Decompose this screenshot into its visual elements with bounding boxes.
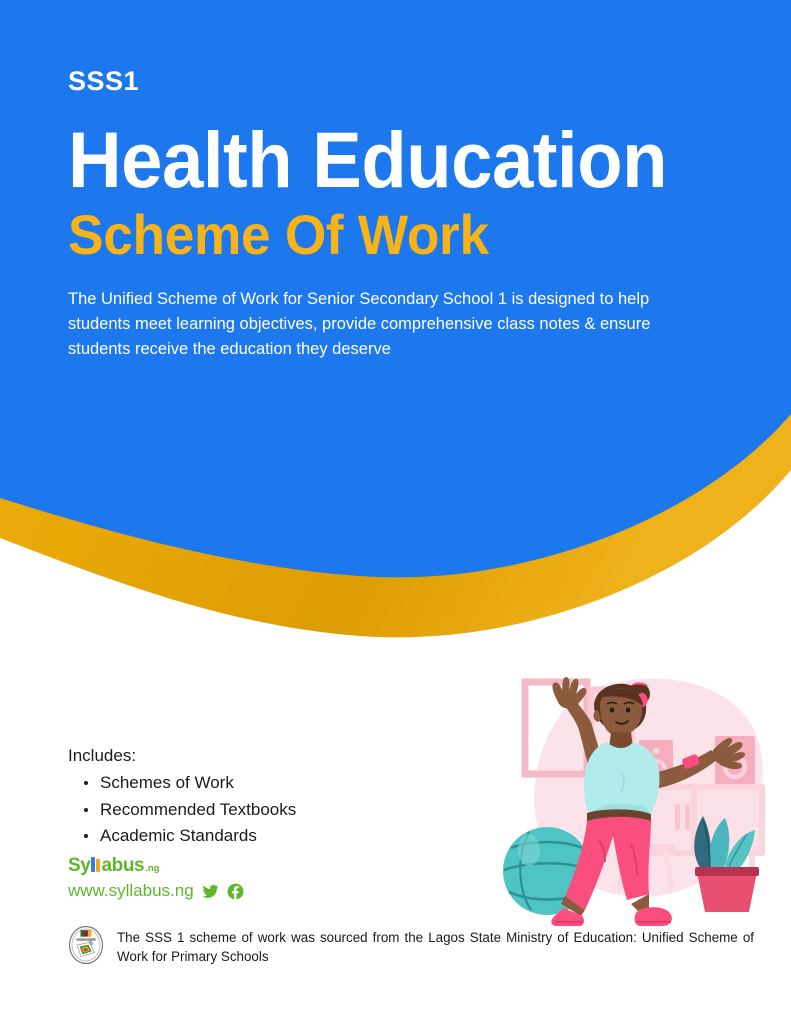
document-description: The Unified Scheme of Work for Senior Se… xyxy=(68,287,708,362)
logo-text-prefix: Sy xyxy=(68,856,90,875)
figure-eye-left xyxy=(610,707,614,712)
lagos-state-ministry-of-education-seal-icon: LAGOS STATE xyxy=(68,925,104,965)
brand-url-row: www.syllabus.ng xyxy=(68,881,244,901)
books-icon xyxy=(91,857,100,872)
document-type-subtitle: Scheme Of Work xyxy=(68,206,698,265)
includes-heading: Includes: xyxy=(68,745,296,767)
cabinet-handle-left xyxy=(675,804,680,830)
plant-pot xyxy=(697,872,757,912)
woman-exercising-illustration xyxy=(499,664,775,930)
list-item: Recommended Textbooks xyxy=(84,798,296,821)
figure-eye-right xyxy=(626,707,630,712)
page-title: Health Education xyxy=(68,121,691,198)
source-note-text: The SSS 1 scheme of work was sourced fro… xyxy=(117,925,754,967)
brand-section: Sy abus .ng www.syllabus.ng xyxy=(68,856,244,901)
svg-text:LAGOS STATE: LAGOS STATE xyxy=(75,938,96,942)
list-item: Schemes of Work xyxy=(84,771,296,794)
header-content: SSS1 Health Education Scheme Of Work The… xyxy=(0,0,791,362)
includes-list: Schemes of Work Recommended Textbooks Ac… xyxy=(84,771,296,847)
cabinet-handle-right xyxy=(685,804,690,830)
logo-tld: .ng xyxy=(145,864,159,874)
source-note: LAGOS STATE The SSS 1 scheme of work was… xyxy=(68,925,758,967)
exercise-ball-highlight xyxy=(518,834,540,866)
figure-shoe-right xyxy=(635,907,672,926)
plant-pot-rim xyxy=(695,867,759,876)
document-page: SSS1 Health Education Scheme Of Work The… xyxy=(0,0,791,1024)
class-level-label: SSS1 xyxy=(68,68,731,95)
speaker-left-tweeter xyxy=(653,748,660,755)
list-item: Academic Standards xyxy=(84,824,296,847)
syllabus-logo[interactable]: Sy abus .ng xyxy=(68,856,244,875)
includes-section: Includes: Schemes of Work Recommended Te… xyxy=(68,745,296,850)
facebook-icon[interactable] xyxy=(227,883,244,900)
logo-text-suffix: abus xyxy=(101,856,144,875)
twitter-icon[interactable] xyxy=(202,883,219,900)
website-url[interactable]: www.syllabus.ng xyxy=(68,881,194,901)
